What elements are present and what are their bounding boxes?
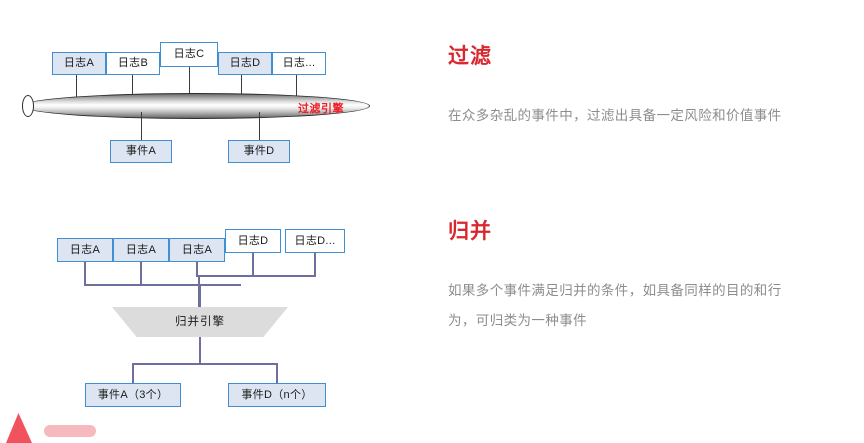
merge-log-box-d2: 日志D...	[285, 229, 345, 253]
log-box-label: 日志D...	[295, 236, 336, 247]
merge-output-leg-d	[276, 363, 278, 383]
description-panel: 过滤 在众多杂乱的事件中，过滤出具备一定风险和价值事件 归并 如果多个事件满足归…	[440, 0, 864, 427]
log-box-label: 日志D	[238, 236, 269, 247]
merge-connector-a3	[196, 262, 198, 276]
diagram-panel: 日志A 日志B 日志C 日志D 日志... 过滤引擎	[0, 0, 430, 427]
merge-output-rail	[132, 363, 278, 365]
merge-rail-a	[84, 284, 241, 286]
merge-trunk-lower	[199, 284, 201, 309]
merge-connector-a1	[84, 262, 86, 284]
merged-event-box-a: 事件A（3个）	[85, 383, 181, 407]
merge-connector-d1	[252, 253, 254, 275]
merge-log-box-a3: 日志A	[169, 238, 225, 262]
merge-connector-a2	[140, 262, 142, 284]
merge-connector-d2	[314, 253, 316, 275]
merge-log-box-d1: 日志D	[225, 229, 281, 253]
merge-output-leg-a	[132, 363, 134, 383]
section-body-merge: 如果多个事件满足归并的条件，如具备同样的目的和行为，可归类为一种事件	[448, 276, 800, 336]
section-body-filter: 在众多杂乱的事件中，过滤出具备一定风险和价值事件	[448, 101, 800, 131]
page-root: 日志A 日志B 日志C 日志D 日志... 过滤引擎	[0, 0, 864, 427]
log-box-label: 日志A	[70, 245, 100, 256]
merge-engine-label: 归并引擎	[175, 313, 225, 329]
section-title-filter: 过滤	[448, 40, 492, 70]
log-box-label: 日志A	[126, 245, 156, 256]
merged-event-label: 事件D（n个）	[241, 390, 312, 401]
merge-output-trunk	[199, 337, 201, 363]
merge-log-box-a2: 日志A	[113, 238, 169, 262]
merge-rail-d	[196, 275, 316, 277]
merged-event-box-d: 事件D（n个）	[228, 383, 326, 407]
merge-log-box-a1: 日志A	[57, 238, 113, 262]
merge-engine: 归并引擎	[112, 307, 288, 337]
log-box-label: 日志A	[182, 245, 212, 256]
merged-event-label: 事件A（3个）	[98, 390, 169, 401]
section-title-merge: 归并	[448, 215, 492, 245]
merge-stage-diagram: 日志A 日志A 日志A 日志D 日志D...	[0, 0, 430, 427]
